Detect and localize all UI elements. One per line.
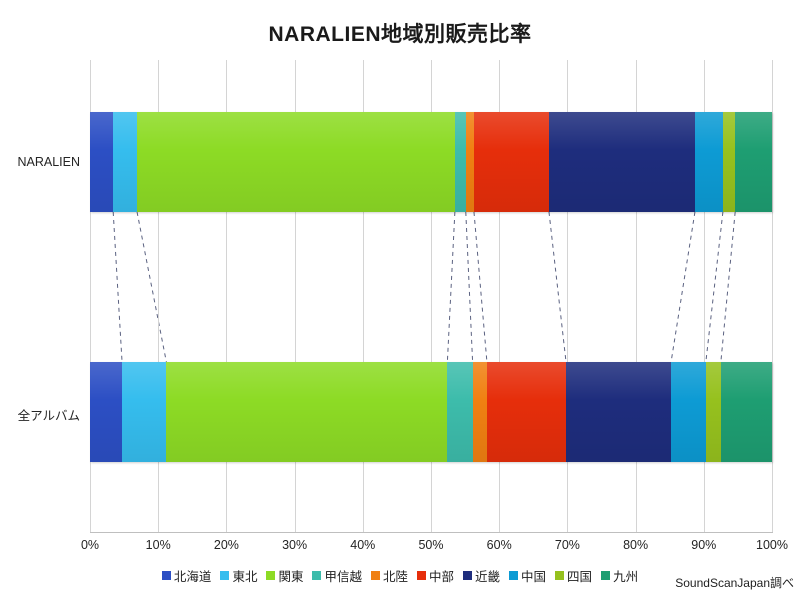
legend-label: 四国 (567, 566, 592, 585)
x-axis-tick-label: 60% (469, 538, 529, 552)
legend-label: 九州 (613, 566, 638, 585)
bar-segment-近畿[interactable] (566, 362, 671, 462)
legend-item-北陸[interactable]: 北陸 (371, 566, 408, 585)
legend-item-北海道[interactable]: 北海道 (162, 566, 212, 585)
legend-label: 東北 (232, 566, 257, 585)
legend-label: 中国 (521, 566, 546, 585)
legend-swatch-icon (266, 571, 275, 580)
legend-label: 近畿 (475, 566, 500, 585)
chart-title: NARALIEN地域別販売比率 (0, 18, 800, 48)
x-axis-tick-label: 50% (401, 538, 461, 552)
bar-segment-中部[interactable] (474, 112, 549, 212)
legend-item-関東[interactable]: 関東 (266, 566, 303, 585)
legend-swatch-icon (601, 571, 610, 580)
bar-naralien[interactable] (90, 112, 772, 212)
legend-swatch-icon (509, 571, 518, 580)
legend-swatch-icon (555, 571, 564, 580)
x-axis-tick-label: 70% (537, 538, 597, 552)
x-axis-line (90, 532, 773, 533)
bar-segment-北海道[interactable] (90, 112, 113, 212)
legend-item-九州[interactable]: 九州 (601, 566, 638, 585)
y-axis-tick-naralien: NARALIEN (0, 155, 80, 169)
legend-swatch-icon (463, 571, 472, 580)
source-note: SoundScanJapan調べ (675, 574, 794, 591)
legend-item-近畿[interactable]: 近畿 (463, 566, 500, 585)
x-axis-tick-label: 0% (60, 538, 120, 552)
legend-swatch-icon (162, 571, 171, 580)
y-axis-tick-zenalbum: 全アルバム (0, 405, 80, 424)
x-axis-tick-label: 30% (265, 538, 325, 552)
bar-segment-北海道[interactable] (90, 362, 122, 462)
bar-segment-中部[interactable] (487, 362, 566, 462)
chart-container: NARALIEN地域別販売比率 NARALIEN 全アルバム 0%10%20%3… (0, 0, 800, 594)
x-axis-tick-label: 20% (196, 538, 256, 552)
legend-swatch-icon (312, 571, 321, 580)
bar-segment-近畿[interactable] (549, 112, 695, 212)
bar-segment-中国[interactable] (671, 362, 706, 462)
bar-zenalbum[interactable] (90, 362, 772, 462)
legend-label: 関東 (278, 566, 303, 585)
legend-item-東北[interactable]: 東北 (220, 566, 257, 585)
bar-segment-関東[interactable] (137, 112, 455, 212)
legend-swatch-icon (371, 571, 380, 580)
bar-segment-四国[interactable] (706, 362, 721, 462)
legend-swatch-icon (417, 571, 426, 580)
legend-item-中国[interactable]: 中国 (509, 566, 546, 585)
bar-segment-甲信越[interactable] (455, 112, 466, 212)
bar-segment-九州[interactable] (721, 362, 772, 462)
x-axis-tick-label: 90% (674, 538, 734, 552)
plot-area (90, 60, 772, 532)
legend-label: 北海道 (174, 566, 212, 585)
x-axis-tick-label: 80% (606, 538, 666, 552)
x-axis-tick-label: 100% (742, 538, 800, 552)
legend-label: 甲信越 (324, 566, 362, 585)
bar-segment-九州[interactable] (735, 112, 772, 212)
bar-segment-東北[interactable] (122, 362, 166, 462)
gridline-100 (772, 60, 773, 532)
bar-segment-東北[interactable] (113, 112, 137, 212)
bar-segment-北陸[interactable] (466, 112, 474, 212)
bar-segment-関東[interactable] (166, 362, 447, 462)
bar-segment-中国[interactable] (695, 112, 723, 212)
bar-segment-北陸[interactable] (473, 362, 487, 462)
x-axis-tick-label: 10% (128, 538, 188, 552)
bar-segment-甲信越[interactable] (447, 362, 472, 462)
bar-segment-四国[interactable] (723, 112, 735, 212)
legend-swatch-icon (220, 571, 229, 580)
legend-label: 北陸 (383, 566, 408, 585)
x-axis-tick-label: 40% (333, 538, 393, 552)
legend-label: 中部 (429, 566, 454, 585)
legend-item-甲信越[interactable]: 甲信越 (312, 566, 362, 585)
legend-item-四国[interactable]: 四国 (555, 566, 592, 585)
legend-item-中部[interactable]: 中部 (417, 566, 454, 585)
